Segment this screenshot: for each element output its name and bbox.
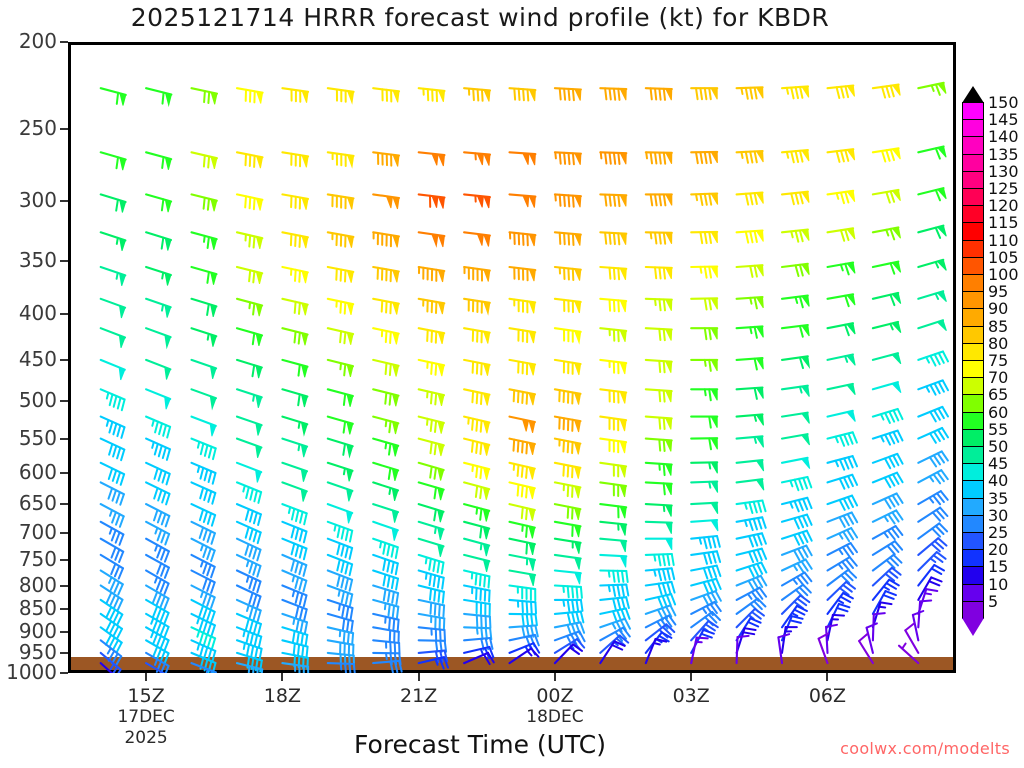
wind-barb [464, 88, 490, 101]
wind-barb [737, 414, 764, 425]
wind-barb [464, 360, 490, 376]
wind-barb [510, 299, 536, 314]
colorbar-swatch[interactable] [962, 119, 984, 137]
wind-barb [782, 546, 812, 561]
wind-barb [192, 663, 216, 673]
wind-barb [419, 360, 444, 376]
wind-barb [918, 523, 947, 538]
y-tick-label: 400 [0, 301, 57, 325]
colorbar-swatch[interactable] [962, 257, 984, 275]
wind-barb [555, 539, 581, 554]
wind-barb [237, 360, 262, 378]
wind-barb [600, 88, 626, 100]
colorbar-swatch[interactable] [962, 498, 984, 516]
wind-barb [464, 194, 490, 208]
wind-barb [101, 299, 125, 318]
y-tick-mark [60, 313, 68, 315]
wind-barb [419, 439, 444, 456]
colorbar-tick-label: 100 [988, 267, 1019, 283]
wind-barb [555, 571, 581, 585]
wind-barb [828, 570, 857, 586]
wind-barb [146, 232, 171, 250]
wind-barb [646, 389, 672, 402]
wind-barb [600, 585, 628, 596]
wind-barb [737, 563, 767, 577]
x-tick-mark [826, 673, 828, 681]
wind-barb [600, 555, 626, 567]
wind-barb [146, 463, 170, 485]
wind-barb [555, 482, 581, 498]
wind-barb [192, 417, 216, 437]
colorbar-swatch[interactable] [962, 446, 984, 464]
wind-barb [828, 615, 845, 640]
wind-barb [600, 522, 626, 536]
wind-barb [867, 623, 877, 653]
wind-barb [237, 482, 261, 503]
colorbar-tick-label: 65 [988, 387, 1008, 403]
wind-barb [282, 360, 307, 377]
wind-barb [282, 328, 307, 345]
y-tick-mark [60, 359, 68, 361]
colorbar-swatch[interactable] [962, 136, 984, 154]
colorbar-swatch[interactable] [962, 429, 984, 447]
colorbar-tick-label: 130 [988, 164, 1019, 180]
wind-barb [464, 232, 490, 246]
wind-barb [873, 510, 903, 523]
wind-barb [691, 298, 717, 309]
wind-barb [737, 193, 764, 205]
wind-barb [782, 230, 809, 242]
wind-barb [600, 504, 626, 518]
wind-barb [873, 526, 903, 539]
wind-barb [464, 439, 489, 456]
wind-barb [646, 328, 672, 340]
colorbar-swatch[interactable] [962, 394, 984, 412]
wind-barb [510, 482, 535, 499]
wind-barb [918, 470, 948, 483]
colorbar-swatch[interactable] [962, 171, 984, 189]
colorbar-swatch[interactable] [962, 566, 984, 584]
wind-barb [192, 328, 217, 347]
wind-barb [646, 639, 667, 663]
y-tick-mark [60, 472, 68, 474]
wind-barb [782, 627, 797, 653]
wind-barb [101, 389, 125, 410]
y-tick-mark [60, 532, 68, 534]
colorbar-swatch[interactable] [962, 188, 984, 206]
wind-barb [691, 566, 720, 579]
colorbar-swatch[interactable] [962, 308, 984, 326]
wind-barb [828, 528, 858, 541]
y-tick-mark [60, 652, 68, 654]
colorbar-tick-label: 60 [988, 405, 1008, 421]
wind-barb [464, 555, 489, 572]
wind-barb [328, 482, 353, 501]
wind-barb [282, 463, 307, 482]
wind-barb [737, 231, 764, 243]
wind-barb [510, 267, 536, 281]
wind-barb [510, 504, 535, 521]
wind-barb [237, 299, 262, 316]
colorbar-tick-label: 25 [988, 525, 1008, 541]
wind-barb [510, 439, 535, 455]
colorbar-tick-label: 15 [988, 559, 1008, 575]
x-tick-label: 03Z [631, 685, 751, 707]
wind-barb [600, 417, 626, 432]
wind-barb [328, 663, 355, 673]
colorbar-tick-label: 120 [988, 198, 1019, 214]
wind-barb [691, 462, 717, 473]
colorbar-tick-label: 10 [988, 577, 1008, 593]
wind-barb [373, 417, 398, 434]
wind-barb [828, 323, 856, 335]
wind-barb [782, 413, 809, 424]
colorbar-tick-label: 5 [988, 594, 998, 610]
wind-barb-field [68, 42, 956, 673]
wind-barb [600, 194, 626, 206]
wind-barb [555, 504, 581, 520]
colorbar-tick-label: 150 [988, 95, 1019, 111]
wind-barb [328, 232, 354, 247]
wind-barb [555, 389, 581, 404]
wind-barb [464, 463, 489, 480]
wind-barb [782, 531, 812, 545]
wind-barb [282, 571, 306, 592]
wind-barb [101, 417, 125, 438]
wind-barb [328, 586, 352, 606]
wind-barb [737, 533, 766, 546]
wind-barb [510, 539, 535, 555]
wind-barb [646, 522, 672, 534]
y-tick-label: 600 [0, 460, 57, 484]
y-tick-label: 350 [0, 248, 57, 272]
colorbar-tick-label: 70 [988, 370, 1008, 386]
colorbar-tick-label: 75 [988, 353, 1008, 369]
wind-barb [192, 267, 217, 285]
wind-barb [146, 482, 169, 504]
x-tick-mark [554, 673, 556, 681]
colorbar-swatch[interactable] [962, 291, 984, 309]
wind-barb [237, 194, 262, 210]
wind-barb [328, 267, 354, 283]
wind-barb [918, 601, 931, 628]
wind-barb [510, 389, 536, 405]
wind-barb [464, 417, 489, 434]
wind-barb [192, 463, 216, 484]
wind-barb [646, 504, 672, 516]
y-tick-label: 850 [0, 596, 57, 620]
wind-barb [101, 267, 126, 286]
wind-barb [600, 439, 626, 454]
wind-barb [737, 358, 764, 369]
wind-barb [101, 439, 125, 461]
wind-barb [510, 522, 535, 539]
wind-barb [646, 482, 672, 494]
wind-barb [419, 522, 444, 540]
wind-barb [691, 602, 721, 615]
wind-barb [782, 585, 811, 600]
wind-barb [691, 503, 718, 514]
wind-barb [192, 389, 217, 408]
wind-barb [419, 88, 445, 102]
wind-barb [510, 360, 536, 375]
watermark: coolwx.com/modelts [840, 739, 1010, 758]
wind-barb [828, 228, 855, 241]
wind-barb [101, 88, 126, 105]
colorbar-tick-label: 45 [988, 456, 1008, 472]
wind-barb [646, 194, 672, 205]
wind-barb [782, 515, 812, 529]
wind-barb [782, 458, 810, 469]
wind-barb [600, 482, 626, 497]
wind-barb [828, 456, 858, 470]
wind-barb [600, 360, 626, 374]
wind-barb [101, 194, 126, 212]
wind-barb [328, 600, 353, 619]
wind-barb [101, 328, 125, 348]
wind-barb [782, 264, 809, 276]
wind-barb [600, 597, 629, 609]
colorbar-swatch[interactable] [962, 463, 984, 481]
wind-barb [510, 194, 536, 207]
wind-barb [101, 360, 125, 380]
wind-barb [419, 539, 444, 557]
wind-barb [873, 473, 903, 488]
wind-barb [691, 88, 717, 99]
wind-barb [510, 463, 535, 480]
wind-barb [464, 522, 489, 539]
y-tick-label: 750 [0, 547, 57, 571]
wind-barb [737, 628, 756, 653]
colorbar-swatch[interactable] [962, 601, 984, 619]
colorbar-swatch[interactable] [962, 274, 984, 292]
wind-barb [282, 482, 306, 501]
colorbar-tick-label: 135 [988, 147, 1019, 163]
wind-barb [510, 600, 537, 613]
wind-barb [510, 417, 535, 433]
wind-barb [873, 85, 900, 98]
wind-barb [419, 657, 448, 668]
wind-barb [737, 297, 764, 308]
wind-barb [419, 267, 445, 282]
wind-barb [510, 586, 536, 601]
wind-barb [464, 482, 489, 499]
colorbar-swatch[interactable] [962, 343, 984, 361]
wind-barb [419, 463, 444, 481]
x-tick-mark [418, 673, 420, 681]
wind-barb [737, 576, 767, 591]
wind-barb [691, 232, 717, 243]
colorbar-swatch[interactable] [962, 549, 984, 567]
x-tick-sublabel-date: 17DEC [86, 707, 206, 727]
colorbar-swatch[interactable] [962, 360, 984, 378]
colorbar-swatch[interactable] [962, 154, 984, 172]
wind-barb [555, 194, 581, 207]
wind-barb [464, 539, 489, 556]
colorbar-swatch[interactable] [962, 102, 984, 120]
wind-barb [873, 541, 902, 555]
wind-barb [828, 355, 856, 366]
colorbar-swatch[interactable] [962, 326, 984, 344]
wind-barb [873, 262, 901, 274]
wind-barb [691, 389, 717, 400]
wind-barb [555, 644, 582, 663]
y-tick-mark [60, 400, 68, 402]
wind-barb [873, 148, 900, 161]
wind-barb [192, 360, 217, 379]
wind-barb [691, 520, 718, 531]
wind-barb [373, 522, 398, 541]
wind-barb [282, 299, 307, 316]
colorbar-tick-label: 50 [988, 439, 1008, 455]
wind-barb [646, 632, 672, 653]
wind-barb [510, 328, 536, 343]
wind-barb [237, 663, 262, 673]
page-title: 2025121714 HRRR forecast wind profile (k… [0, 3, 960, 32]
x-tick-label: 18Z [222, 685, 342, 707]
wind-barb [737, 265, 764, 277]
wind-barb [737, 326, 764, 337]
wind-barb [146, 152, 171, 169]
wind-barb [828, 432, 857, 446]
colorbar-swatch[interactable] [962, 222, 984, 240]
wind-barb [828, 411, 856, 422]
wind-barb [555, 360, 581, 375]
colorbar-swatch[interactable] [962, 205, 984, 223]
wind-barb [237, 571, 261, 593]
colorbar-swatch[interactable] [962, 515, 984, 533]
wind-barb [555, 522, 581, 537]
wind-barb [646, 299, 672, 311]
colorbar-over-arrow [962, 86, 984, 103]
wind-barb [691, 438, 717, 449]
wind-barb [600, 641, 624, 663]
wind-barb [419, 482, 444, 500]
wind-barb [373, 463, 398, 481]
wind-barb [282, 663, 308, 673]
wind-barb [328, 504, 352, 523]
colorbar-swatch[interactable] [962, 532, 984, 550]
wind-barb [237, 267, 262, 284]
colorbar[interactable]: 1501451401351301251201151101051009590858… [962, 86, 984, 648]
wind-barb [237, 152, 263, 168]
y-tick-mark [60, 631, 68, 633]
wind-barb [737, 501, 766, 514]
wind-barb [419, 328, 445, 344]
wind-barb [873, 190, 901, 203]
wind-barb [555, 463, 581, 479]
wind-barb [737, 388, 764, 399]
wind-barb [918, 538, 946, 555]
colorbar-under-arrow [962, 618, 984, 636]
wind-barb [192, 232, 217, 249]
wind-barb [146, 360, 170, 380]
wind-barb [328, 299, 353, 315]
wind-barb [419, 152, 445, 166]
colorbar-swatch[interactable] [962, 480, 984, 498]
colorbar-tick-label: 140 [988, 129, 1019, 145]
y-tick-label: 550 [0, 426, 57, 450]
y-tick-mark [60, 200, 68, 202]
wind-barb [373, 439, 398, 457]
colorbar-swatch[interactable] [962, 412, 984, 430]
wind-barb [737, 436, 764, 447]
y-tick-label: 450 [0, 347, 57, 371]
colorbar-tick-label: 30 [988, 508, 1008, 524]
wind-barb [782, 573, 811, 586]
wind-barb [918, 380, 948, 394]
wind-barb [918, 188, 946, 200]
wind-barb [101, 232, 126, 251]
wind-barb [237, 88, 263, 103]
wind-barb [555, 232, 581, 245]
wind-barb [282, 194, 308, 209]
wind-barb [510, 614, 537, 625]
wind-barb [464, 299, 490, 314]
wind-barb [555, 88, 581, 100]
wind-barb [828, 543, 858, 556]
wind-barb [873, 293, 901, 305]
wind-barb [600, 463, 626, 478]
wind-barb [600, 328, 626, 342]
colorbar-tick-label: 80 [988, 336, 1008, 352]
colorbar-swatch[interactable] [962, 240, 984, 258]
wind-barb [555, 299, 581, 313]
wind-barb [237, 504, 261, 525]
wind-barb [146, 267, 171, 286]
wind-barb [691, 360, 717, 371]
wind-barb [419, 232, 445, 247]
wind-barb [782, 560, 812, 573]
wind-barb [737, 87, 763, 99]
y-tick-mark [60, 260, 68, 262]
wind-barb [918, 508, 947, 522]
wind-barb [328, 152, 354, 167]
colorbar-tick-label: 55 [988, 422, 1008, 438]
wind-barb [237, 463, 261, 483]
colorbar-swatch[interactable] [962, 584, 984, 602]
wind-barb [691, 551, 720, 564]
wind-barb [782, 86, 809, 98]
x-axis-title: Forecast Time (UTC) [150, 730, 810, 759]
wind-barb [373, 360, 398, 377]
colorbar-tick-label: 35 [988, 491, 1008, 507]
wind-barb [918, 147, 946, 159]
wind-barb [737, 549, 767, 562]
y-tick-mark [60, 128, 68, 130]
wind-barb [828, 191, 855, 203]
wind-barb [555, 586, 582, 598]
wind-barb [782, 192, 809, 205]
wind-barb [828, 496, 858, 510]
wind-barb [192, 194, 217, 211]
colorbar-swatch[interactable] [962, 377, 984, 395]
wind-barb [873, 613, 885, 640]
x-tick-mark [690, 673, 692, 681]
wind-barb [373, 389, 398, 406]
x-tick-label: 00Z [495, 685, 615, 707]
wind-barb [328, 328, 353, 345]
x-tick-label: 06Z [767, 685, 887, 707]
wind-barb [873, 227, 901, 239]
wind-barb [328, 389, 353, 406]
wind-barb [828, 294, 856, 306]
wind-barb [373, 328, 399, 344]
wind-barb [691, 267, 717, 278]
wind-barb [646, 439, 672, 452]
y-tick-mark [60, 585, 68, 587]
x-tick-label: 21Z [359, 685, 479, 707]
